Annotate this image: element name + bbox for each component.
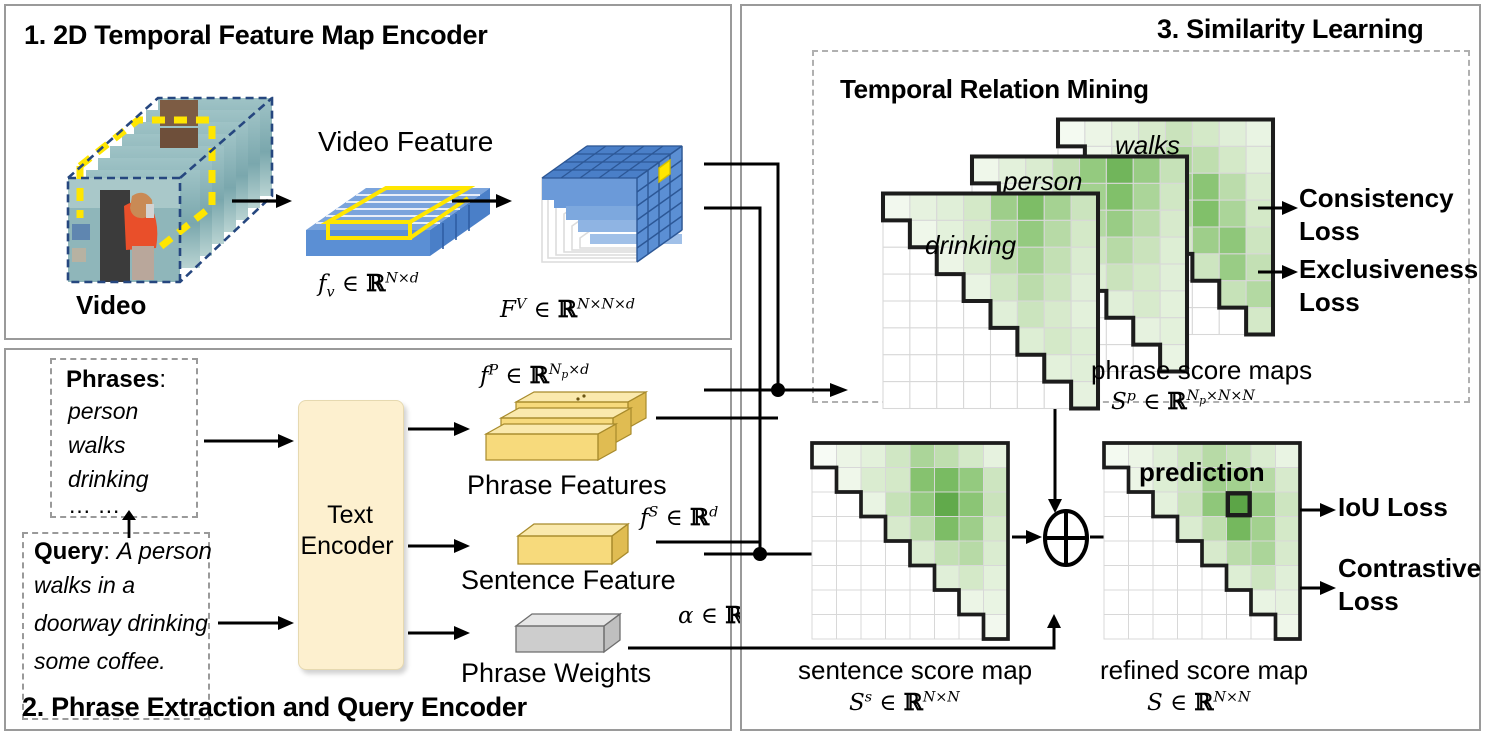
score-cell — [812, 492, 837, 517]
score-cell — [1153, 566, 1178, 591]
arrow-feature-to-map — [452, 190, 512, 212]
score-cell — [1178, 541, 1203, 566]
score-cell — [1017, 382, 1044, 409]
fp-math-label: fP ∈ ℝNp×d — [480, 362, 589, 389]
score-cell — [1219, 173, 1246, 200]
score-cell — [1044, 328, 1071, 355]
score-cell — [861, 615, 886, 640]
score-cell — [1133, 237, 1160, 264]
score-cell — [1219, 146, 1246, 173]
score-cell — [812, 443, 837, 468]
score-cell — [1017, 247, 1044, 274]
score-cell — [1246, 281, 1273, 308]
score-cell — [910, 541, 935, 566]
score-cell — [861, 541, 886, 566]
score-cell — [837, 615, 862, 640]
score-cell — [1044, 301, 1071, 328]
score-cell — [812, 590, 837, 615]
arrow-query-to-phrases — [118, 510, 140, 538]
score-cell — [883, 355, 910, 382]
score-cell — [1044, 194, 1071, 221]
s-math-label: S ∈ ℝN×N — [1147, 689, 1250, 716]
score-cell — [1192, 200, 1219, 227]
score-cell — [1071, 194, 1098, 221]
score-cell — [1202, 566, 1227, 591]
phrase-item-0: person — [68, 398, 138, 425]
score-cell — [1133, 210, 1160, 237]
score-cell — [1153, 590, 1178, 615]
score-cell — [1251, 615, 1276, 640]
score-cell — [1202, 541, 1227, 566]
score-cell — [964, 355, 991, 382]
score-cell — [1178, 615, 1203, 640]
score-cell — [1044, 382, 1071, 409]
score-cell — [1153, 517, 1178, 542]
score-cell — [1104, 468, 1129, 493]
score-cell — [1178, 492, 1203, 517]
score-cell — [883, 382, 910, 409]
score-cell — [861, 492, 886, 517]
score-cell — [1219, 308, 1246, 335]
score-cell — [964, 301, 991, 328]
score-cell — [959, 517, 984, 542]
score-cell — [886, 517, 911, 542]
score-cell — [1227, 590, 1252, 615]
arrow-phrases-to-encoder — [204, 430, 294, 452]
score-cell — [812, 566, 837, 591]
score-cell — [984, 492, 1009, 517]
score-cell — [937, 301, 964, 328]
score-cell — [1106, 264, 1133, 291]
ss-math-label: Ss ∈ ℝN×N — [849, 689, 960, 716]
score-cell — [837, 468, 862, 493]
score-cell — [1017, 274, 1044, 301]
score-cell — [1133, 157, 1160, 184]
score-cell — [964, 274, 991, 301]
video-feature-label: Video Feature — [318, 126, 493, 158]
score-cell — [1219, 200, 1246, 227]
score-cell — [910, 355, 937, 382]
score-cell — [1192, 146, 1219, 173]
score-cell — [886, 468, 911, 493]
score-cell — [991, 194, 1018, 221]
arrow-encoder-to-phrase-features — [408, 418, 470, 440]
score-cell — [910, 382, 937, 409]
score-cell — [1153, 615, 1178, 640]
panel3-title: 3. Similarity Learning — [1157, 14, 1424, 45]
score-cell — [984, 468, 1009, 493]
score-cell — [1017, 220, 1044, 247]
score-cell — [910, 301, 937, 328]
score-cell — [959, 443, 984, 468]
score-cell — [937, 274, 964, 301]
text-encoder-label: Text Encoder — [298, 500, 402, 562]
score-cell — [1227, 492, 1252, 517]
score-cell — [991, 355, 1018, 382]
score-cell — [1219, 281, 1246, 308]
score-cell — [1202, 615, 1227, 640]
arrow-to-consistency-loss — [1258, 198, 1298, 218]
exclusiveness-loss-label: ExclusivenessLoss — [1299, 253, 1478, 319]
video-feature-slab — [298, 168, 498, 264]
score-cell — [1192, 120, 1219, 147]
score-cell — [910, 566, 935, 591]
score-cell — [812, 615, 837, 640]
score-cell — [1251, 566, 1276, 591]
score-cell — [1133, 291, 1160, 318]
score-cell — [1160, 237, 1187, 264]
score-cell — [1104, 615, 1129, 640]
score-cell — [1104, 590, 1129, 615]
score-cell — [1044, 220, 1071, 247]
score-cell — [972, 157, 999, 184]
score-cell — [812, 541, 837, 566]
score-cell — [1129, 566, 1154, 591]
score-cell — [991, 274, 1018, 301]
score-cell — [883, 328, 910, 355]
score-cell — [910, 615, 935, 640]
phrase-map-label-drinking: drinking — [925, 230, 1016, 261]
score-cell — [1106, 210, 1133, 237]
score-cell — [937, 328, 964, 355]
phrase-score-maps-label: phrase score maps — [1091, 355, 1312, 386]
score-cell — [1071, 274, 1098, 301]
score-cell — [861, 517, 886, 542]
score-cell — [1276, 443, 1301, 468]
score-cell — [1058, 120, 1085, 147]
score-cell — [1276, 492, 1301, 517]
score-cell — [1106, 291, 1133, 318]
sp-math-label: Sp ∈ ℝNp×N×N — [1111, 388, 1255, 415]
arrow-to-contrastive-loss — [1300, 578, 1336, 598]
score-cell — [1071, 220, 1098, 247]
score-cell — [1080, 157, 1107, 184]
score-cell — [959, 615, 984, 640]
score-cell — [1178, 590, 1203, 615]
score-cell — [1104, 541, 1129, 566]
score-cell — [984, 590, 1009, 615]
arrow-video-to-feature — [232, 190, 292, 212]
score-cell — [1085, 120, 1112, 147]
score-cell — [964, 194, 991, 221]
score-cell — [937, 355, 964, 382]
score-cell — [1133, 183, 1160, 210]
score-cell — [837, 492, 862, 517]
score-cell — [991, 301, 1018, 328]
score-cell — [812, 468, 837, 493]
score-cell — [1227, 541, 1252, 566]
score-cell — [1129, 590, 1154, 615]
score-cell — [1133, 318, 1160, 345]
refined-score-map-label: refined score map — [1100, 655, 1308, 686]
score-cell — [1202, 517, 1227, 542]
score-cell — [812, 517, 837, 542]
score-cell — [910, 468, 935, 493]
score-cell — [935, 615, 960, 640]
score-cell — [984, 443, 1009, 468]
score-grid-sentence — [812, 443, 1008, 639]
score-cell — [1246, 120, 1273, 147]
score-cell — [910, 517, 935, 542]
score-cell — [1129, 517, 1154, 542]
score-cell — [1192, 254, 1219, 281]
score-cell — [1104, 517, 1129, 542]
arrow-query-to-encoder — [218, 612, 294, 634]
score-cell — [1160, 210, 1187, 237]
score-cell — [1017, 301, 1044, 328]
score-cell — [984, 566, 1009, 591]
score-cell — [1276, 541, 1301, 566]
arrow-to-exclusiveness-loss — [1258, 262, 1298, 282]
score-cell — [886, 492, 911, 517]
fusion-operator — [1035, 505, 1097, 571]
score-cell — [984, 517, 1009, 542]
temporal-relation-mining-title: Temporal Relation Mining — [840, 74, 1149, 105]
score-cell — [883, 274, 910, 301]
score-cell — [1251, 492, 1276, 517]
score-cell — [935, 492, 960, 517]
score-cell — [910, 194, 937, 221]
score-cell — [1017, 194, 1044, 221]
score-cell — [861, 566, 886, 591]
video-cube-graphic — [62, 78, 272, 298]
score-cell — [1071, 328, 1098, 355]
score-cell — [1178, 517, 1203, 542]
score-cell — [1104, 492, 1129, 517]
score-cell — [991, 328, 1018, 355]
trm-to-fusion-wire — [1045, 395, 1065, 513]
score-cell — [886, 590, 911, 615]
score-cell — [1202, 590, 1227, 615]
score-cell — [1246, 227, 1273, 254]
score-cell — [1251, 517, 1276, 542]
score-cell — [1071, 301, 1098, 328]
score-cell — [959, 468, 984, 493]
score-cell — [1219, 120, 1246, 147]
score-cell — [1160, 318, 1187, 345]
score-cell — [1106, 318, 1133, 345]
score-cell — [959, 590, 984, 615]
score-cell — [937, 382, 964, 409]
score-cell — [964, 328, 991, 355]
score-cell — [883, 301, 910, 328]
arrow-encoder-to-phrase-weights — [408, 622, 470, 644]
score-cell — [935, 443, 960, 468]
score-cell — [1246, 173, 1273, 200]
score-cell — [883, 194, 910, 221]
score-cell — [1160, 157, 1187, 184]
score-cell — [935, 541, 960, 566]
arrow-to-iou-loss — [1300, 500, 1336, 520]
score-cell — [1153, 541, 1178, 566]
score-cell — [910, 328, 937, 355]
consistency-loss-label: ConsistencyLoss — [1299, 182, 1454, 248]
sentence-score-map-label: sentence score map — [798, 655, 1032, 686]
score-cell — [1153, 492, 1178, 517]
score-cell — [1104, 566, 1129, 591]
contrastive-loss-label: ContrastiveLoss — [1338, 552, 1481, 618]
score-cell — [837, 541, 862, 566]
score-cell — [935, 590, 960, 615]
phrase-item-1: walks — [68, 432, 126, 459]
score-cell — [1129, 492, 1154, 517]
score-cell — [1251, 590, 1276, 615]
phrase-item-3: … … — [68, 492, 120, 519]
score-cell — [1071, 247, 1098, 274]
score-cell — [959, 566, 984, 591]
score-cell — [1192, 173, 1219, 200]
query-line-1: walks in a — [34, 572, 135, 599]
score-cell — [837, 590, 862, 615]
panel2-title: 2. Phrase Extraction and Query Encoder — [22, 692, 527, 723]
score-grid-drinking — [883, 192, 1098, 410]
score-cell — [861, 590, 886, 615]
score-cell — [886, 615, 911, 640]
score-cell — [959, 541, 984, 566]
score-cell — [937, 194, 964, 221]
score-cell — [1160, 183, 1187, 210]
score-cell — [959, 492, 984, 517]
score-cell — [991, 382, 1018, 409]
score-cell — [1106, 183, 1133, 210]
score-cell — [1133, 264, 1160, 291]
score-cell — [1227, 566, 1252, 591]
score-cell — [1276, 468, 1301, 493]
score-cell — [1106, 237, 1133, 264]
arrow-encoder-to-sentence-feature — [408, 535, 470, 557]
score-cell — [1192, 281, 1219, 308]
score-cell — [984, 541, 1009, 566]
score-cell — [1219, 254, 1246, 281]
score-cell — [861, 443, 886, 468]
score-cell — [910, 443, 935, 468]
score-cell — [935, 468, 960, 493]
score-cell — [1160, 264, 1187, 291]
query-heading: Query: A person — [34, 538, 212, 566]
score-cell — [1104, 443, 1129, 468]
score-cell — [910, 590, 935, 615]
score-cell — [1192, 227, 1219, 254]
phrase-item-2: drinking — [68, 466, 149, 493]
score-cell — [886, 541, 911, 566]
score-cell — [1044, 355, 1071, 382]
score-cell — [1276, 566, 1301, 591]
score-cell — [1246, 146, 1273, 173]
score-cell — [1202, 492, 1227, 517]
score-cell — [1106, 157, 1133, 184]
score-cell — [837, 517, 862, 542]
score-cell — [935, 517, 960, 542]
score-cell — [1017, 355, 1044, 382]
score-cell — [910, 274, 937, 301]
score-cell — [1219, 227, 1246, 254]
score-cell — [935, 566, 960, 591]
fv-math-label: f fv ∈ ℝN×d — [318, 270, 419, 301]
score-cell — [1276, 615, 1301, 640]
score-cell — [1251, 541, 1276, 566]
score-cell — [1129, 615, 1154, 640]
score-cell — [1178, 566, 1203, 591]
score-cell — [1017, 328, 1044, 355]
panel1-title: 1. 2D Temporal Feature Map Encoder — [24, 20, 487, 51]
score-cell — [1044, 274, 1071, 301]
phrases-heading: Phrases: — [66, 366, 166, 394]
iou-loss-label: IoU Loss — [1338, 492, 1448, 523]
score-cell — [1129, 541, 1154, 566]
score-cell — [984, 615, 1009, 640]
score-cell — [886, 443, 911, 468]
score-cell — [883, 247, 910, 274]
query-line-3: some coffee. — [34, 648, 166, 675]
score-cell — [886, 566, 911, 591]
score-cell — [837, 566, 862, 591]
score-cell — [910, 492, 935, 517]
score-cell — [883, 220, 910, 247]
score-cell — [837, 443, 862, 468]
score-cell — [964, 382, 991, 409]
query-line-2: doorway drinking — [34, 610, 208, 637]
score-cell — [861, 468, 886, 493]
score-cell — [1276, 517, 1301, 542]
score-cell — [1160, 291, 1187, 318]
prediction-label: prediction — [1139, 457, 1265, 488]
score-cell — [1246, 308, 1273, 335]
video-label: Video — [76, 290, 146, 321]
score-cell — [1276, 590, 1301, 615]
score-cell — [1227, 615, 1252, 640]
score-cell — [1227, 517, 1252, 542]
score-cell — [1192, 308, 1219, 335]
score-cell — [1044, 247, 1071, 274]
